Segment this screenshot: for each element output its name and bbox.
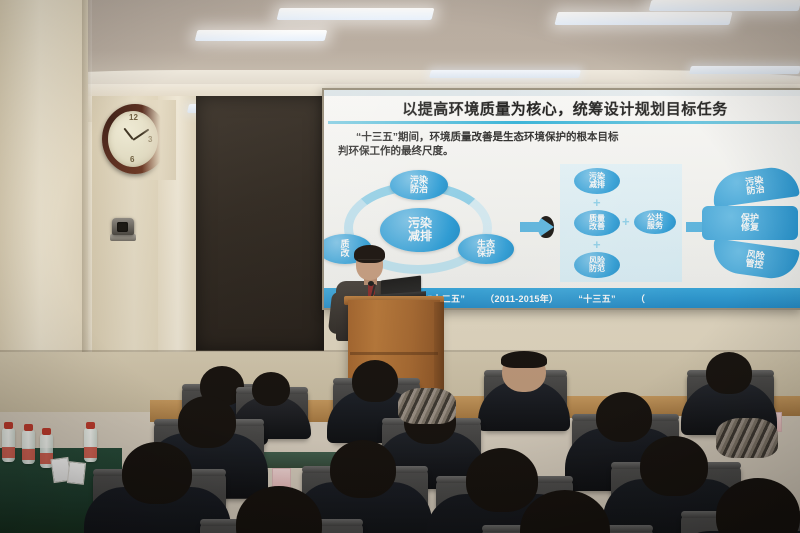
clock-numeral-6: 6 <box>130 155 134 164</box>
clock-wall-occlusion <box>142 100 176 180</box>
pillar-edge-shadow <box>82 0 92 400</box>
box-item-emission: 污染 减排 <box>574 168 620 194</box>
bubble-emission-reduction: 污染 减排 <box>380 208 460 252</box>
fur-collar <box>716 418 778 458</box>
wall-pillar-left <box>0 0 88 400</box>
ptz-camera-lens <box>117 222 128 232</box>
audience-member-head <box>178 396 236 448</box>
box-item-risk: 风险 防范 <box>574 252 620 278</box>
fur-collar <box>398 388 456 424</box>
bottle-cap <box>4 422 13 429</box>
slide-title-rule <box>328 121 800 124</box>
bubble-eco-protection: 生态 保护 <box>458 234 514 264</box>
ceiling-light-panel-2 <box>277 8 435 20</box>
wall-clock: 12 3 6 <box>96 100 170 180</box>
ceiling-light-panel-1 <box>195 30 328 41</box>
segment-protect-restore: 保护 修复 <box>702 206 798 240</box>
ceiling-light-panel-4 <box>649 0 800 11</box>
bottle-cap <box>24 424 33 431</box>
conference-photo: 12 3 6 以提高环境质量为核心，统筹设计规划目标任务 “十三五”期间，环境质… <box>0 0 800 533</box>
plus-sign-2: + <box>593 237 601 252</box>
bottle-cap <box>42 428 51 435</box>
timeline-label-5: （ <box>626 292 655 305</box>
ptz-camera-mount <box>110 234 136 241</box>
ceiling-light-panel-6 <box>429 70 581 78</box>
bottle-label <box>22 449 35 460</box>
audience-member-head <box>122 442 192 504</box>
audience-member-head <box>596 392 652 442</box>
timeline-label-3: （2011-2015年） <box>475 292 568 305</box>
podium-side-face <box>434 302 444 400</box>
flow-arrow-1 <box>520 216 554 238</box>
box-item-public-service: 公共 服务 <box>634 210 676 234</box>
acoustic-panel <box>196 96 324 351</box>
bottle-cap <box>86 422 95 429</box>
timeline-label-4: “十三五” <box>568 292 626 305</box>
audience-member-head <box>706 352 752 394</box>
slide-body-text: “十三五”期间，环境质量改善是生态环境保护的根本目标 判环保工作的最终尺度。 <box>338 130 798 158</box>
segment-pollution-control: 污染 防治 <box>710 164 800 208</box>
speaker-glasses <box>358 259 381 265</box>
slide-body-line-2: 判环保工作的最终尺度。 <box>338 144 798 158</box>
audience-member-head <box>330 440 396 498</box>
podium-trim <box>350 352 438 355</box>
slide-diagram-segments: 污染 防治 保护 修复 风险 管控 <box>696 168 800 280</box>
bottle-label <box>84 447 97 458</box>
audience-member-head <box>252 372 290 406</box>
audience-member-hair <box>501 351 547 368</box>
segment-risk-management: 风险 管控 <box>710 238 800 282</box>
projected-slide: 以提高环境质量为核心，统筹设计规划目标任务 “十三五”期间，环境质量改善是生态环… <box>324 90 800 308</box>
audience-member-head <box>352 360 398 402</box>
slide-diagram-box: 污染 减排 + 质量 改善 + 风险 防范 + 公共 服务 <box>560 164 682 282</box>
clock-numeral-12: 12 <box>129 113 138 122</box>
plus-sign-3: + <box>622 214 630 229</box>
plus-sign-1: + <box>593 195 601 210</box>
slide-title: 以提高环境质量为核心，统筹设计规划目标任务 <box>330 96 800 120</box>
slide-body-line-1: “十三五”期间，环境质量改善是生态环境保护的根本目标 <box>338 130 798 144</box>
bottle-label <box>2 447 15 458</box>
audience-member-head <box>466 448 538 512</box>
box-item-quality: 质量 改善 <box>574 210 620 236</box>
ceiling-light-panel-3 <box>554 12 732 25</box>
audience-member-head <box>640 436 708 496</box>
name-card <box>67 461 86 485</box>
microphone-head <box>368 281 374 286</box>
ceiling-light-panel-7 <box>689 66 800 74</box>
bubble-pollution-control: 污染 防治 <box>390 170 448 200</box>
